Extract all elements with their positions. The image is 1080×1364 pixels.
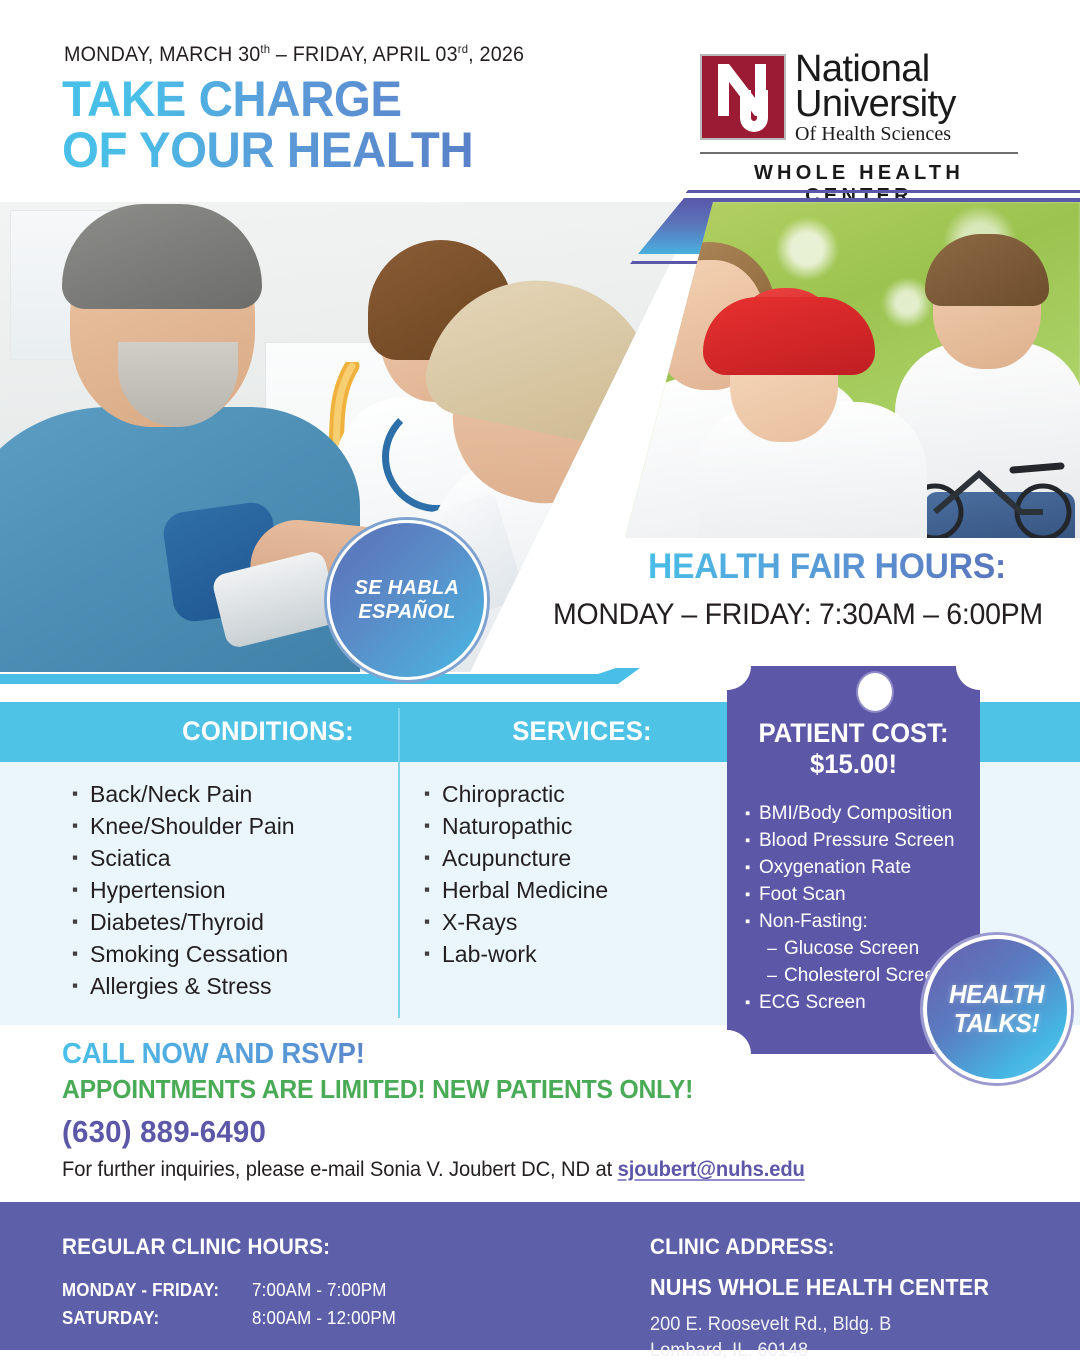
patient-cost-item-label: Cholesterol Screen: [784, 962, 946, 989]
service-item-label: Acupuncture: [442, 842, 571, 874]
list-item: ▪Back/Neck Pain: [72, 778, 295, 810]
bullet-icon: ▪: [72, 842, 90, 874]
bullet-icon: ▪: [745, 827, 759, 854]
date-mid: – FRIDAY, APRIL 03: [270, 43, 458, 66]
email-inquiry-line: For further inquiries, please e-mail Son…: [62, 1158, 805, 1182]
bullet-icon: ▪: [72, 906, 90, 938]
health-talks-badge: HEALTH TALKS!: [923, 935, 1071, 1083]
footer: REGULAR CLINIC HOURS: MONDAY - FRIDAY: 7…: [0, 1202, 1080, 1350]
bullet-icon: ▪: [424, 874, 442, 906]
list-item: ▪Knee/Shoulder Pain: [72, 810, 295, 842]
list-item: ▪Non-Fasting:: [745, 908, 977, 935]
service-item-label: X-Rays: [442, 906, 517, 938]
patient-cost-item-label: BMI/Body Composition: [759, 800, 952, 827]
tag-hole-icon: [858, 673, 892, 711]
list-item: ▪Chiropractic: [424, 778, 608, 810]
condition-item-label: Sciatica: [90, 842, 171, 874]
bullet-icon: ▪: [745, 854, 759, 881]
condition-item-label: Knee/Shoulder Pain: [90, 810, 295, 842]
bullet-icon: ▪: [745, 989, 759, 1016]
list-item: ▪Smoking Cessation: [72, 938, 295, 970]
list-item: ▪Allergies & Stress: [72, 970, 295, 1002]
footer-hours-row-0-value: 7:00AM - 7:00PM: [252, 1280, 386, 1301]
bullet-icon: ▪: [72, 938, 90, 970]
footer-hours-row-0-label: MONDAY - FRIDAY:: [62, 1280, 219, 1301]
footer-hours-row-1-value: 8:00AM - 12:00PM: [252, 1308, 396, 1329]
condition-item-label: Smoking Cessation: [90, 938, 288, 970]
list-item: ▪Diabetes/Thyroid: [72, 906, 295, 938]
patient-cost-item-label: Oxygenation Rate: [759, 854, 911, 881]
conditions-heading: CONDITIONS:: [133, 716, 403, 747]
se-habla-espanol-badge: SE HABLA ESPAÑOL: [327, 520, 487, 680]
bullet-icon: ▪: [72, 970, 90, 1002]
date-prefix: MONDAY, MARCH 30: [64, 43, 260, 66]
nuhs-logo: National University Of Health Sciences W…: [700, 52, 1018, 208]
patient-cost-label: PATIENT COST:: [733, 718, 973, 749]
bullet-icon: ▪: [745, 800, 759, 827]
service-item-label: Herbal Medicine: [442, 874, 608, 906]
column-divider: [398, 708, 400, 1018]
email-link[interactable]: sjoubert@nuhs.edu: [618, 1158, 805, 1181]
health-talks-line-1: HEALTH: [949, 979, 1044, 1009]
phone-number[interactable]: (630) 889-6490: [62, 1114, 266, 1150]
bullet-icon: ▪: [424, 842, 442, 874]
conditions-list: ▪Back/Neck Pain▪Knee/Shoulder Pain▪Sciat…: [72, 778, 295, 1002]
headline-line-1: TAKE CHARGE: [62, 71, 402, 127]
list-item: ▪Naturopathic: [424, 810, 608, 842]
list-item: ▪Blood Pressure Screen: [745, 827, 977, 854]
bullet-icon: ▪: [745, 908, 759, 935]
list-item: ▪Lab-work: [424, 938, 608, 970]
service-item-label: Chiropractic: [442, 778, 565, 810]
patient-cost-item-label: Blood Pressure Screen: [759, 827, 954, 854]
health-fair-hours-value: MONDAY – FRIDAY: 7:30AM – 6:00PM: [553, 598, 1038, 632]
logo-line-national: National: [795, 52, 956, 87]
list-item: ▪Acupuncture: [424, 842, 608, 874]
footer-hours-row-1-label: SATURDAY:: [62, 1308, 159, 1329]
condition-item-label: Hypertension: [90, 874, 226, 906]
bullet-icon: ▪: [72, 778, 90, 810]
dash-icon: –: [767, 962, 784, 989]
logo-divider: [700, 152, 1018, 154]
patient-cost-item-label: Non-Fasting:: [759, 908, 868, 935]
bullet-icon: ▪: [72, 874, 90, 906]
call-now-heading: CALL NOW AND RSVP!: [62, 1038, 365, 1071]
condition-item-label: Back/Neck Pain: [90, 778, 252, 810]
bullet-icon: ▪: [424, 938, 442, 970]
dash-icon: –: [767, 935, 784, 962]
list-item: ▪Foot Scan: [745, 881, 977, 908]
patient-cost-item-label: ECG Screen: [759, 989, 866, 1016]
footer-address-line-1: 200 E. Roosevelt Rd., Bldg. B: [650, 1312, 891, 1338]
patient-cost-amount: $15.00!: [733, 749, 973, 780]
service-item-label: Lab-work: [442, 938, 537, 970]
page-title: TAKE CHARGE OF YOUR HEALTH: [62, 74, 473, 176]
date-ordinal-1: th: [260, 42, 270, 56]
condition-item-label: Diabetes/Thyroid: [90, 906, 264, 938]
footer-address-line-2: Lombard, IL. 60148: [650, 1338, 808, 1364]
header: MONDAY, MARCH 30th – FRIDAY, APRIL 03rd,…: [0, 0, 1080, 202]
list-item: ▪BMI/Body Composition: [745, 800, 977, 827]
date-suffix: , 2026: [468, 43, 524, 66]
bullet-icon: ▪: [745, 881, 759, 908]
headline-line-2: OF YOUR HEALTH: [62, 125, 473, 176]
footer-hours-heading: REGULAR CLINIC HOURS:: [62, 1234, 330, 1260]
hero-photo-band: SE HABLA ESPAÑOL HEALTH FAIR HOURS: MOND…: [0, 202, 1080, 702]
bullet-icon: ▪: [424, 778, 442, 810]
se-habla-line-2: ESPAÑOL: [358, 601, 455, 623]
condition-item-label: Allergies & Stress: [90, 970, 272, 1002]
health-fair-hours-title: HEALTH FAIR HOURS:: [648, 547, 1032, 587]
list-item: ▪Oxygenation Rate: [745, 854, 977, 881]
services-heading: SERVICES:: [447, 716, 717, 747]
bullet-icon: ▪: [424, 810, 442, 842]
date-ordinal-2: rd: [458, 42, 468, 56]
list-item: ▪X-Rays: [424, 906, 608, 938]
health-talks-line-2: TALKS!: [954, 1008, 1040, 1038]
services-list: ▪Chiropractic▪Naturopathic▪Acupuncture▪H…: [424, 778, 608, 970]
se-habla-line-1: SE HABLA: [355, 577, 460, 599]
patient-cost-item-label: Foot Scan: [759, 881, 846, 908]
logo-line-university: University: [795, 87, 956, 122]
bullet-icon: ▪: [424, 906, 442, 938]
footer-address-heading: CLINIC ADDRESS:: [650, 1234, 835, 1260]
service-item-label: Naturopathic: [442, 810, 572, 842]
list-item: ▪Sciatica: [72, 842, 295, 874]
appointments-limited-note: APPOINTMENTS ARE LIMITED! NEW PATIENTS O…: [62, 1074, 693, 1105]
email-inquiry-prefix: For further inquiries, please e-mail Son…: [62, 1158, 618, 1181]
footer-clinic-name: NUHS WHOLE HEALTH CENTER: [650, 1274, 989, 1301]
patient-cost-item-label: Glucose Screen: [784, 935, 919, 962]
nu-monogram-icon: [700, 54, 786, 140]
logo-line-health-sciences: Of Health Sciences: [795, 123, 956, 146]
event-date-range: MONDAY, MARCH 30th – FRIDAY, APRIL 03rd,…: [64, 42, 524, 67]
list-item: ▪Herbal Medicine: [424, 874, 608, 906]
list-item: ▪Hypertension: [72, 874, 295, 906]
patient-cost-title: PATIENT COST: $15.00!: [733, 718, 973, 780]
bullet-icon: ▪: [72, 810, 90, 842]
